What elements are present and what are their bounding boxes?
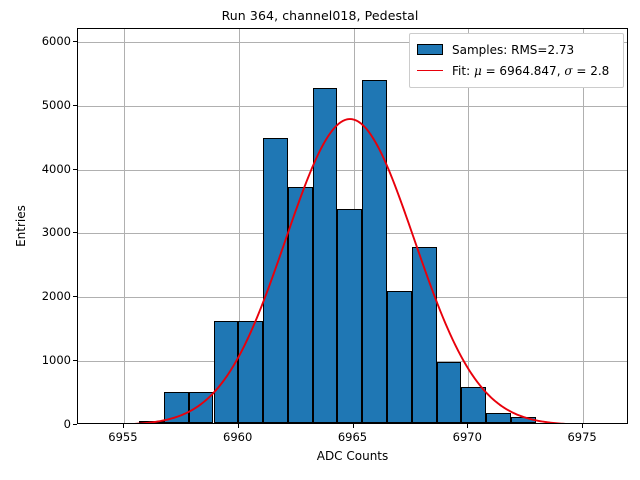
y-tick-label: 3000 <box>42 225 71 239</box>
x-tick-label: 6960 <box>223 430 252 444</box>
legend-patch-icon <box>417 44 443 55</box>
legend[interactable]: Samples: RMS=2.73 Fit: μ = 6964.847, σ =… <box>409 33 624 88</box>
x-tick-label: 6970 <box>453 430 482 444</box>
y-axis-tick-labels: 0100020003000400050006000 <box>0 28 71 424</box>
legend-item-samples[interactable]: Samples: RMS=2.73 <box>417 39 616 60</box>
x-tick-mark <box>238 424 239 428</box>
gaussian-fit-curve <box>78 29 628 424</box>
x-tick-label: 6965 <box>338 430 367 444</box>
y-tick-label: 0 <box>64 417 71 431</box>
y-tick-label: 5000 <box>42 98 71 112</box>
x-tick-mark <box>123 424 124 428</box>
x-tick-mark <box>467 424 468 428</box>
legend-label-fit: Fit: μ = 6964.847, σ = 2.8 <box>452 64 609 78</box>
legend-line-icon <box>417 70 443 71</box>
legend-label-samples: Samples: RMS=2.73 <box>452 43 574 57</box>
page-title: Run 364, channel018, Pedestal <box>0 8 640 23</box>
fit-curve-path <box>78 119 628 424</box>
y-tick-label: 6000 <box>42 34 71 48</box>
y-tick-label: 1000 <box>42 353 71 367</box>
legend-label-fit-text: Fit: μ = 6964.847, σ = 2.8 <box>452 64 609 78</box>
x-tick-mark <box>582 424 583 428</box>
x-tick-label: 6955 <box>108 430 137 444</box>
x-axis-tick-labels: 69556960696569706975 <box>77 424 628 454</box>
y-tick-label: 2000 <box>42 289 71 303</box>
x-tick-mark <box>353 424 354 428</box>
y-tick-label: 4000 <box>42 162 71 176</box>
x-tick-label: 6975 <box>567 430 596 444</box>
figure-canvas: Run 364, channel018, Pedestal Entries AD… <box>0 0 640 480</box>
legend-item-fit[interactable]: Fit: μ = 6964.847, σ = 2.8 <box>417 60 616 81</box>
